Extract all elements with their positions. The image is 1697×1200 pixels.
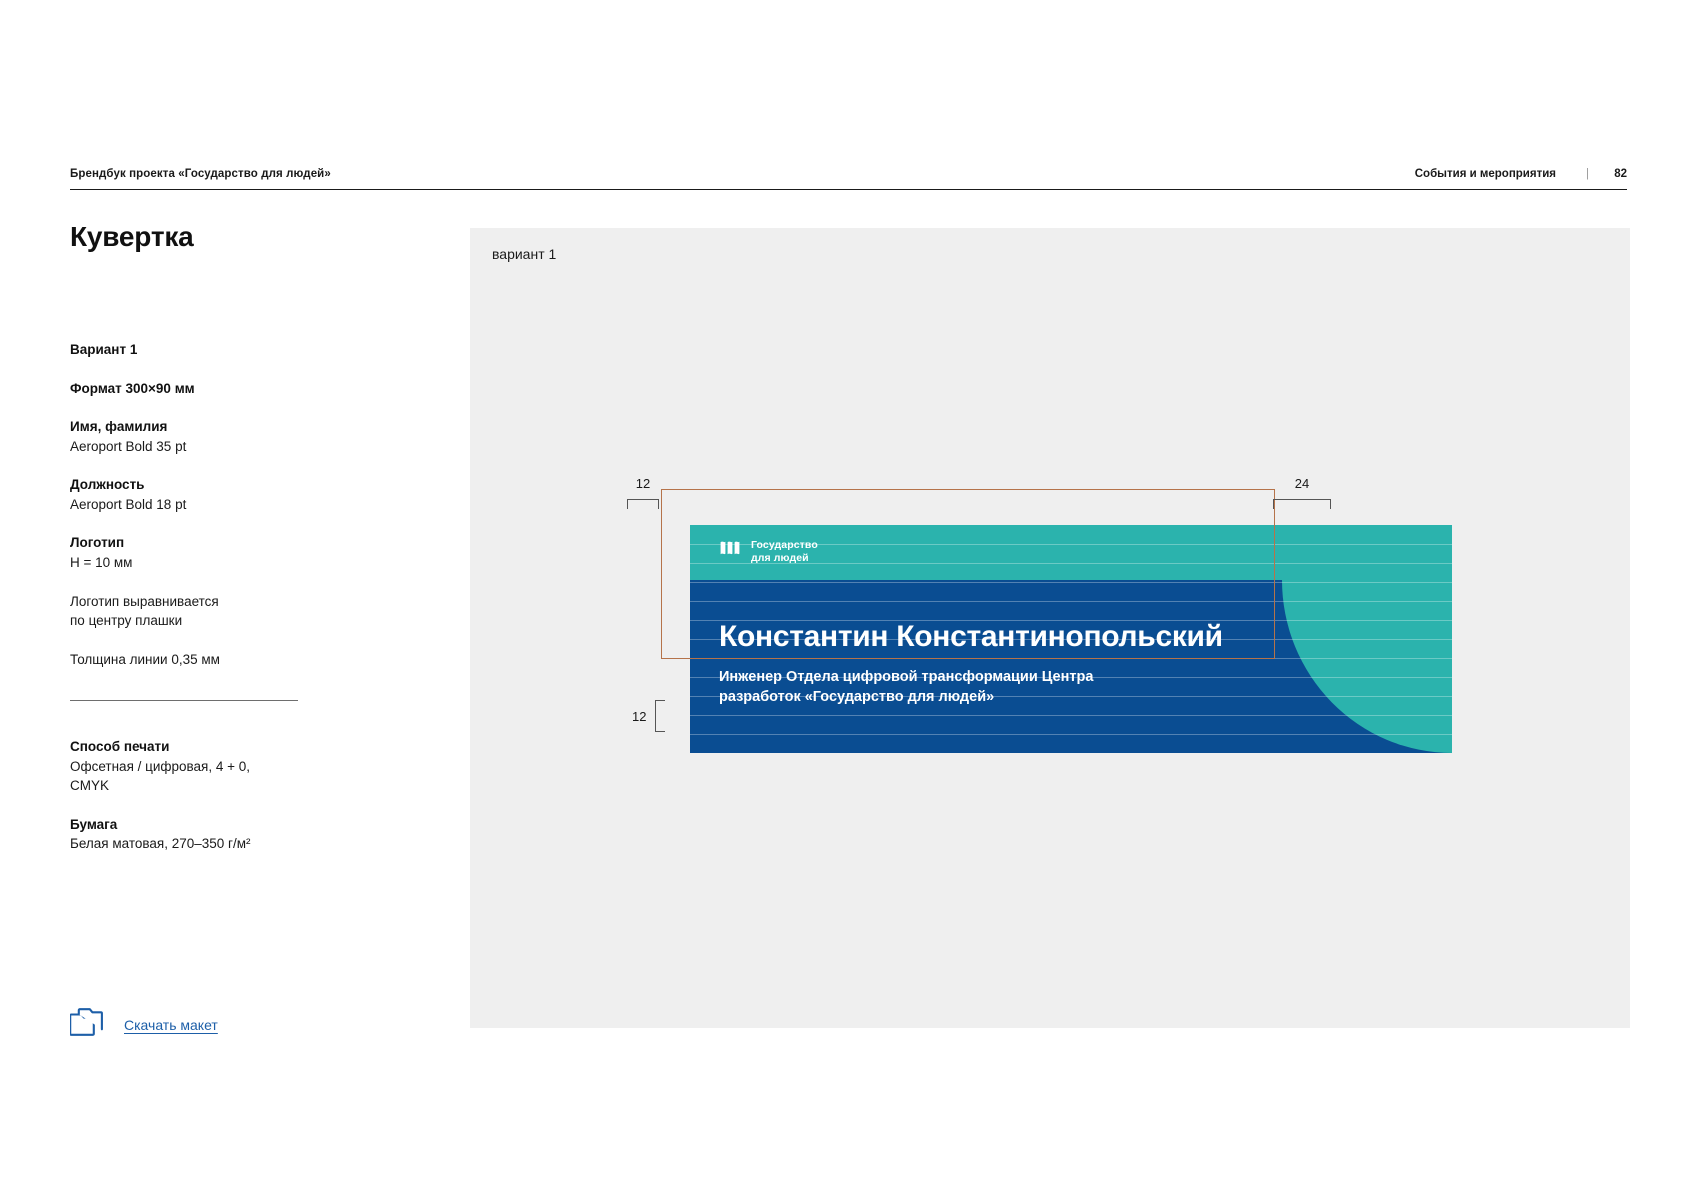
three-flags-logo-icon [719, 539, 742, 565]
section-name: События и мероприятия [1415, 168, 1556, 180]
dimension-bracket [1273, 499, 1331, 509]
spec-value: Белая матовая, 270–350 г/м² [70, 834, 380, 854]
card-person-position: Инженер Отдела цифровой трансформации Це… [719, 668, 1093, 707]
spec-divider [70, 700, 298, 701]
header-separator: | [1586, 168, 1589, 180]
spec-item-logo-height: Логотип H = 10 мм [70, 533, 380, 572]
dimension-bracket [655, 700, 665, 732]
dimension-bottom-left: 12 [632, 700, 665, 732]
spec-label: Вариант 1 [70, 340, 380, 360]
dimension-top-right: 24 [1273, 477, 1331, 509]
spec-value: Aeroport Bold 18 pt [70, 495, 380, 515]
brandbook-title: Брендбук проекта «Государство для людей» [70, 168, 331, 180]
specification-list: Вариант 1 Формат 300×90 мм Имя, фамилия … [70, 340, 380, 873]
spec-value: Aeroport Bold 35 pt [70, 437, 380, 457]
card-logo-lockup: Государство для людей [719, 539, 818, 565]
spec-note-line-weight: Толщина линии 0,35 мм [70, 650, 380, 670]
page-header: Брендбук проекта «Государство для людей»… [70, 168, 1627, 180]
dimension-top-left: 12 [627, 477, 659, 509]
spec-value: H = 10 мм [70, 553, 380, 573]
spec-label: Способ печати [70, 737, 380, 757]
card-logo-wordmark: Государство для людей [751, 539, 818, 565]
spec-item-format: Формат 300×90 мм [70, 379, 380, 399]
dimension-value: 24 [1273, 477, 1331, 490]
header-divider-rule [70, 189, 1627, 190]
spec-label: Имя, фамилия [70, 417, 380, 437]
spec-note-logo-alignment: Логотип выравнивается по центру плашки [70, 592, 380, 631]
variant-caption: вариант 1 [492, 246, 556, 262]
page-number: 82 [1614, 168, 1627, 180]
spec-item-position-font: Должность Aeroport Bold 18 pt [70, 475, 380, 514]
spec-label: Бумага [70, 815, 380, 835]
dimension-bracket [627, 499, 659, 509]
spec-label: Логотип [70, 533, 380, 553]
spec-note-text: Толщина линии 0,35 мм [70, 650, 380, 670]
spec-item-print-method: Способ печати Офсетная / цифровая, 4 + 0… [70, 737, 380, 796]
spec-label: Должность [70, 475, 380, 495]
header-right-group: События и мероприятия | 82 [1415, 168, 1627, 180]
spec-item-variant: Вариант 1 [70, 340, 380, 360]
folder-icon [70, 1008, 104, 1041]
page-title: Кувертка [70, 222, 370, 253]
download-layout-link[interactable]: Скачать макет [124, 1017, 218, 1033]
header-group-page: | 82 [1582, 168, 1627, 180]
couvert-card-mockup: Государство для людей Константин Констан… [690, 525, 1452, 753]
dimension-value: 12 [632, 710, 646, 723]
spec-item-name-font: Имя, фамилия Aeroport Bold 35 pt [70, 417, 380, 456]
download-layout-row[interactable]: Скачать макет [70, 1008, 218, 1041]
dimension-value: 12 [627, 477, 659, 490]
spec-value: Офсетная / цифровая, 4 + 0, CMYK [70, 757, 380, 796]
card-person-name: Константин Константинопольский [719, 620, 1223, 654]
spec-label: Формат 300×90 мм [70, 379, 380, 399]
left-column: Кувертка [70, 222, 370, 253]
spec-note-text: Логотип выравнивается по центру плашки [70, 592, 380, 631]
spec-item-paper: Бумага Белая матовая, 270–350 г/м² [70, 815, 380, 854]
